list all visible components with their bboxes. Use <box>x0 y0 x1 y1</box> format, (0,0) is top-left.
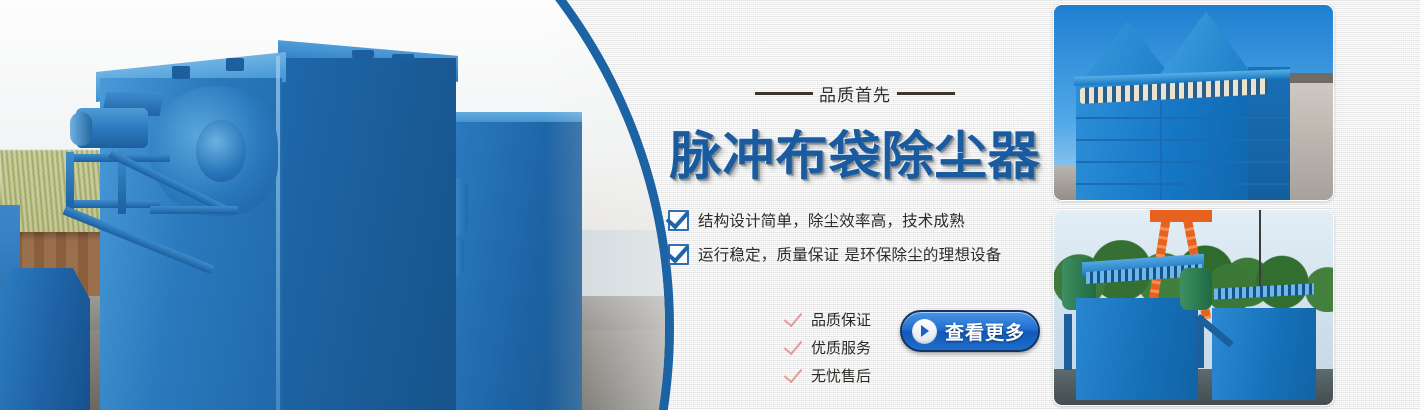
thumb-bottom-support-leg <box>1064 314 1072 370</box>
eyebrow-label: 品质首先 <box>819 81 891 106</box>
thumb-top-panel-seam <box>1076 161 1290 163</box>
checkbox-checked-icon <box>668 244 689 265</box>
photo-blower-hub <box>196 120 246 182</box>
thumb-top-panel-seam <box>1076 139 1290 141</box>
thumb-bottom-unit-right <box>1212 308 1316 400</box>
view-more-button-label: 查看更多 <box>945 318 1025 345</box>
benefit-item-label: 品质保证 <box>811 309 871 330</box>
benefit-item-label: 无忧售后 <box>811 365 871 386</box>
hero-photo <box>0 0 665 410</box>
thumb-top-panel-seam <box>1212 101 1214 200</box>
thumbnail-bottom[interactable] <box>1053 209 1334 406</box>
photo-collector-right-face <box>278 58 456 410</box>
benefits-list: 品质保证 优质服务 无忧售后 <box>785 305 905 389</box>
product-banner: 品质首先 脉冲布袋除尘器 结构设计简单，除尘效率高，技术成熟 运行稳定，质量保证… <box>0 0 1420 410</box>
thumbnail-top[interactable] <box>1053 4 1334 201</box>
checkbox-checked-icon <box>668 210 689 231</box>
thumb-bottom-crane-head <box>1150 210 1212 222</box>
banner-copy: 品质首先 脉冲布袋除尘器 结构设计简单，除尘效率高，技术成熟 运行稳定，质量保证… <box>660 0 1050 410</box>
photo-edge-fade <box>545 0 665 410</box>
check-mark-icon <box>785 366 803 384</box>
checklist-item: 运行稳定，质量保证 是环保除尘的理想设备 <box>668 237 1050 271</box>
photo-left-hopper <box>0 268 90 410</box>
thumb-bottom-power-line <box>1259 210 1261 288</box>
benefit-item: 无忧售后 <box>785 361 905 389</box>
benefit-item: 品质保证 <box>785 305 905 333</box>
photo-lid-tab <box>226 58 244 71</box>
thumb-top-panel-seam <box>1160 101 1162 200</box>
thumb-bottom-unit-left <box>1076 298 1198 400</box>
page-title: 脉冲布袋除尘器 <box>660 114 1050 189</box>
checklist-item: 结构设计简单，除尘效率高，技术成熟 <box>668 203 1050 237</box>
photo-frame-bar <box>150 206 238 214</box>
checklist-item-label: 结构设计简单，除尘效率高，技术成熟 <box>698 209 965 231</box>
photo-collector-corner-highlight <box>276 56 280 410</box>
benefit-item: 优质服务 <box>785 333 905 361</box>
photo-frame-bar <box>68 200 160 208</box>
thumb-bottom-trees-right <box>1204 250 1334 312</box>
feature-checklist: 结构设计简单，除尘效率高，技术成熟 运行稳定，质量保证 是环保除尘的理想设备 <box>668 203 1050 271</box>
check-mark-icon <box>785 338 803 356</box>
photo-motor-cylinder <box>70 112 92 146</box>
benefit-item-label: 优质服务 <box>811 337 871 358</box>
photo-lid-tab <box>352 50 374 58</box>
play-arrow-icon <box>912 319 937 344</box>
eyebrow-rule-right <box>897 92 955 95</box>
checklist-item-label: 运行稳定，质量保证 是环保除尘的理想设备 <box>698 243 1001 265</box>
hero-photo-circle-mask <box>0 0 665 410</box>
eyebrow-rule-left <box>755 92 813 95</box>
thumb-bottom-fan-housing-right <box>1180 268 1212 310</box>
thumb-top-panel-seam <box>1076 183 1290 185</box>
photo-lid-tab <box>392 54 414 62</box>
eyebrow: 品质首先 <box>660 80 1050 106</box>
view-more-button[interactable]: 查看更多 <box>900 310 1040 352</box>
photo-lid-tab <box>172 66 190 79</box>
photo-frame-bar <box>66 152 74 214</box>
check-mark-icon <box>785 310 803 328</box>
thumb-top-panel-seam <box>1076 117 1290 119</box>
